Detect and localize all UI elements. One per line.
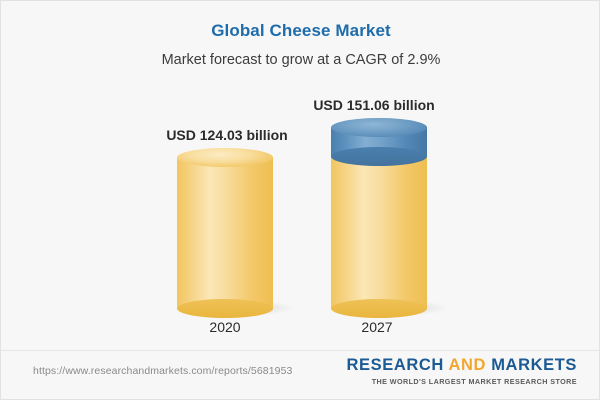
cylinder-base-ellipse	[331, 147, 427, 166]
axis-label-2027: 2027	[307, 319, 447, 335]
logo-text-markets: MARKETS	[486, 356, 577, 374]
chart-subtitle: Market forecast to grow at a CAGR of 2.9…	[1, 52, 600, 68]
chart-card: Global Cheese Market Market forecast to …	[0, 0, 600, 400]
logo-wordmark: RESEARCH AND MARKETS	[347, 357, 578, 374]
footer-divider	[1, 350, 600, 351]
chart-plot-area: USD 124.03 billion USD 151.06 billion	[1, 81, 600, 341]
data-label-2020: USD 124.03 billion	[107, 127, 347, 143]
cylinder-base-ellipse	[177, 299, 273, 318]
cylinder-top-ellipse	[177, 148, 273, 167]
cylinder-body	[177, 157, 273, 309]
brand-logo[interactable]: RESEARCH AND MARKETS THE WORLD'S LARGEST…	[347, 357, 578, 386]
logo-tagline: THE WORLD'S LARGEST MARKET RESEARCH STOR…	[347, 377, 578, 386]
logo-text-and: AND	[448, 356, 486, 374]
data-label-2027: USD 151.06 billion	[254, 97, 494, 113]
bar-2020[interactable]	[177, 148, 273, 309]
cylinder-top-ellipse	[331, 118, 427, 137]
report-url[interactable]: https://www.researchandmarkets.com/repor…	[33, 365, 292, 377]
bar-segment-2027-growth	[331, 118, 427, 157]
bar-2027[interactable]	[331, 118, 427, 309]
axis-label-2020: 2020	[155, 319, 295, 335]
bar-segment-2027-base	[331, 148, 427, 309]
cylinder-base-ellipse	[331, 299, 427, 318]
logo-text-research: RESEARCH	[347, 356, 449, 374]
bar-segment-2020-base	[177, 148, 273, 309]
cylinder-body	[331, 148, 427, 309]
page-title: Global Cheese Market	[1, 21, 600, 41]
